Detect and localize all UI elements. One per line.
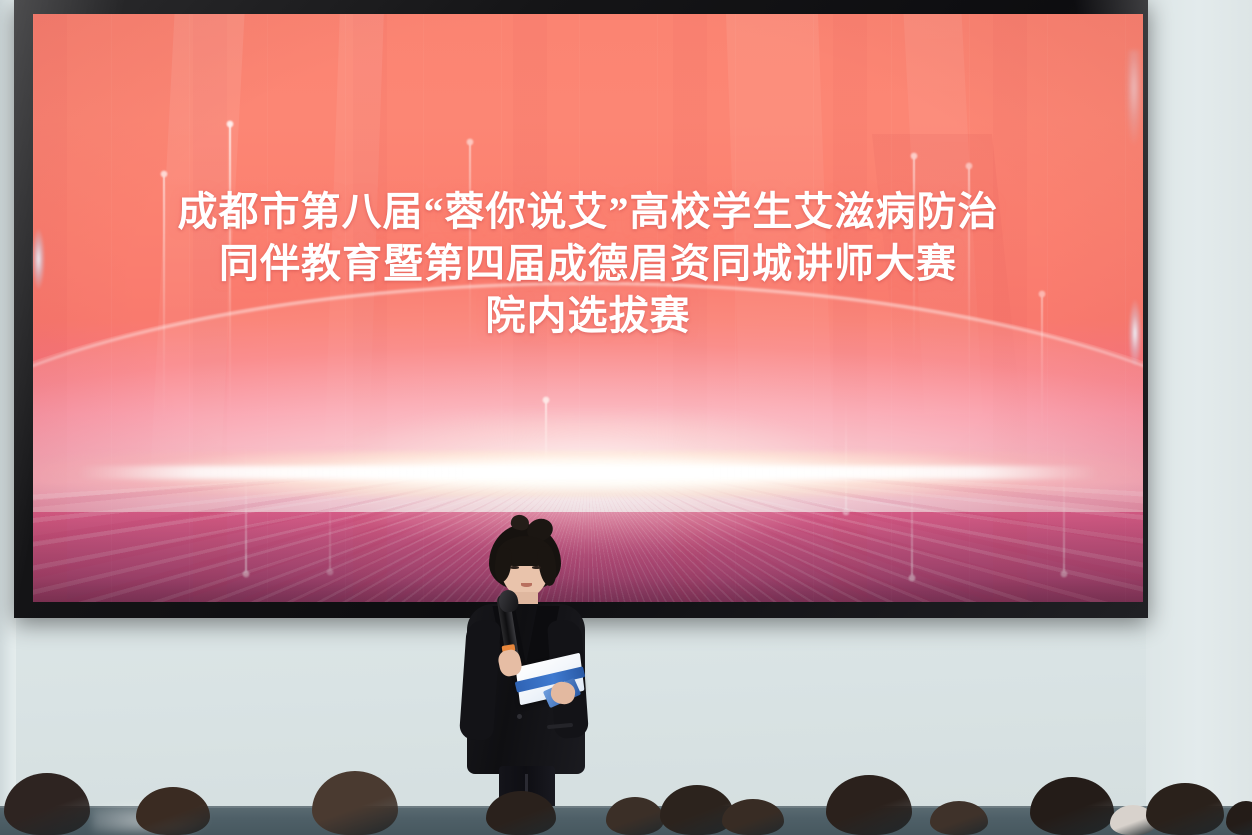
bezel-reflection-right-upper — [1126, 50, 1142, 145]
event-title-line-2: 同伴教育暨第四届成德眉资同城讲师大赛 — [33, 238, 1143, 290]
event-title: 成都市第八届“蓉你说艾”高校学生艾滋病防治 同伴教育暨第四届成德眉资同城讲师大赛… — [33, 186, 1143, 342]
speaker-blazer-button — [517, 714, 522, 719]
event-title-line-1: 成都市第八届“蓉你说艾”高校学生艾滋病防治 — [33, 186, 1143, 238]
speaker-eye-left — [510, 566, 519, 569]
stage-photo-scene: 成都市第八届“蓉你说艾”高校学生艾滋病防治 同伴教育暨第四届成德眉资同城讲师大赛… — [0, 0, 1252, 835]
speaker-eye-right — [532, 566, 541, 569]
event-title-line-3: 院内选拔赛 — [33, 290, 1143, 342]
wall-right-panel — [1146, 0, 1252, 835]
bezel-reflection-left — [32, 228, 45, 290]
led-display-screen: 成都市第八届“蓉你说艾”高校学生艾滋病防治 同伴教育暨第四届成德眉资同城讲师大赛… — [33, 14, 1143, 602]
audience-head — [722, 799, 784, 835]
speaker-mouth — [521, 583, 532, 587]
bezel-reflection-right — [1128, 298, 1142, 368]
audience-head — [930, 801, 988, 835]
speaker-presenter — [455, 524, 595, 824]
